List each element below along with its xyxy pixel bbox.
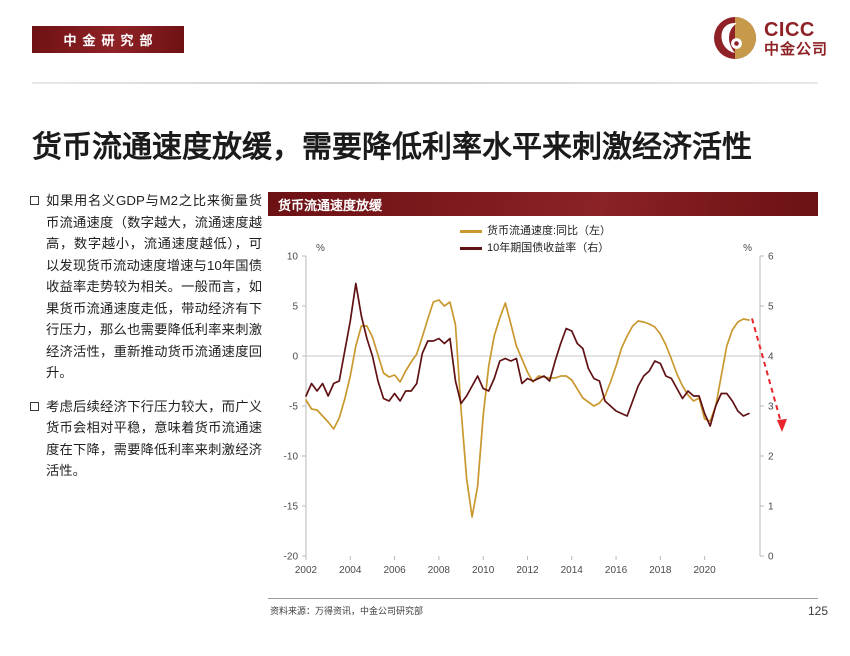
footer-divider xyxy=(268,598,818,599)
legend-swatch-yield xyxy=(460,247,482,250)
square-bullet-icon xyxy=(30,402,39,411)
department-banner: 中金研究部 xyxy=(32,26,184,53)
svg-text:10: 10 xyxy=(287,252,299,263)
svg-text:2016: 2016 xyxy=(605,565,628,576)
svg-text:2: 2 xyxy=(768,452,774,463)
legend-item-velocity: 货币流通速度:同比（左） xyxy=(460,223,611,240)
legend-label-velocity: 货币流通速度:同比（左） xyxy=(487,223,611,240)
cicc-chinese-label: 中金公司 xyxy=(764,42,828,57)
svg-text:-5: -5 xyxy=(289,402,298,413)
list-item: 如果用名义GDP与M2之比来衡量货币流通速度（数字越大，流通速度越高，数字越小，… xyxy=(30,190,262,384)
legend-label-yield: 10年期国债收益率（右） xyxy=(487,240,609,257)
svg-text:2004: 2004 xyxy=(339,565,362,576)
svg-text:2010: 2010 xyxy=(472,565,495,576)
line-chart-svg: 1050-5-10-15-20%6543210%2002200420062008… xyxy=(268,216,818,588)
cicc-logo-text: CICC 中金公司 xyxy=(764,20,828,57)
legend-swatch-velocity xyxy=(460,230,482,233)
svg-text:2002: 2002 xyxy=(295,565,318,576)
svg-text:2012: 2012 xyxy=(516,565,539,576)
svg-text:2018: 2018 xyxy=(649,565,672,576)
svg-text:-20: -20 xyxy=(284,552,299,563)
slide-header: 中金研究部 CICC 中金公司 xyxy=(0,0,850,78)
svg-text:%: % xyxy=(743,243,752,254)
legend-item-yield: 10年期国债收益率（右） xyxy=(460,240,611,257)
svg-text:3: 3 xyxy=(768,402,774,413)
svg-text:1: 1 xyxy=(768,502,774,513)
page-title: 货币流通速度放缓，需要降低利率水平来刺激经济活性 xyxy=(32,122,822,166)
cicc-latin-label: CICC xyxy=(764,20,828,40)
svg-text:2006: 2006 xyxy=(383,565,406,576)
cicc-logo: CICC 中金公司 xyxy=(713,16,828,60)
svg-text:4: 4 xyxy=(768,352,774,363)
chart-panel: 货币流通速度放缓 1050-5-10-15-20%6543210%2002200… xyxy=(268,192,818,588)
chart-title-bar: 货币流通速度放缓 xyxy=(268,192,818,216)
chart-legend: 货币流通速度:同比（左） 10年期国债收益率（右） xyxy=(460,223,611,257)
header-divider xyxy=(32,82,818,84)
svg-text:5: 5 xyxy=(768,302,774,313)
svg-text:0: 0 xyxy=(292,352,298,363)
list-item: 考虑后续经济下行压力较大，而广义货币会相对平稳，意味着货币流通速度在下降，需要降… xyxy=(30,396,262,482)
svg-text:5: 5 xyxy=(292,302,298,313)
slide: 中金研究部 CICC 中金公司 货币流通速度放缓，需要降低利率水平来刺激经济活性… xyxy=(0,0,850,656)
bullet-list: 如果用名义GDP与M2之比来衡量货币流通速度（数字越大，流通速度越高，数字越小，… xyxy=(30,190,262,494)
cicc-logo-mark-icon xyxy=(713,16,757,60)
svg-text:6: 6 xyxy=(768,252,774,263)
svg-text:2008: 2008 xyxy=(428,565,451,576)
bullet-text: 考虑后续经济下行压力较大，而广义货币会相对平稳，意味着货币流通速度在下降，需要降… xyxy=(46,396,262,482)
svg-text:2020: 2020 xyxy=(694,565,717,576)
square-bullet-icon xyxy=(30,196,39,205)
chart-plot-area: 1050-5-10-15-20%6543210%2002200420062008… xyxy=(268,216,818,588)
source-note: 资料来源：万得资讯，中金公司研究部 xyxy=(270,604,423,617)
svg-text:2014: 2014 xyxy=(561,565,584,576)
svg-text:%: % xyxy=(316,243,325,254)
svg-text:-10: -10 xyxy=(284,452,299,463)
svg-text:-15: -15 xyxy=(284,502,299,513)
bullet-text: 如果用名义GDP与M2之比来衡量货币流通速度（数字越大，流通速度越高，数字越小，… xyxy=(46,190,262,384)
svg-text:0: 0 xyxy=(768,552,774,563)
page-number: 125 xyxy=(808,604,828,618)
